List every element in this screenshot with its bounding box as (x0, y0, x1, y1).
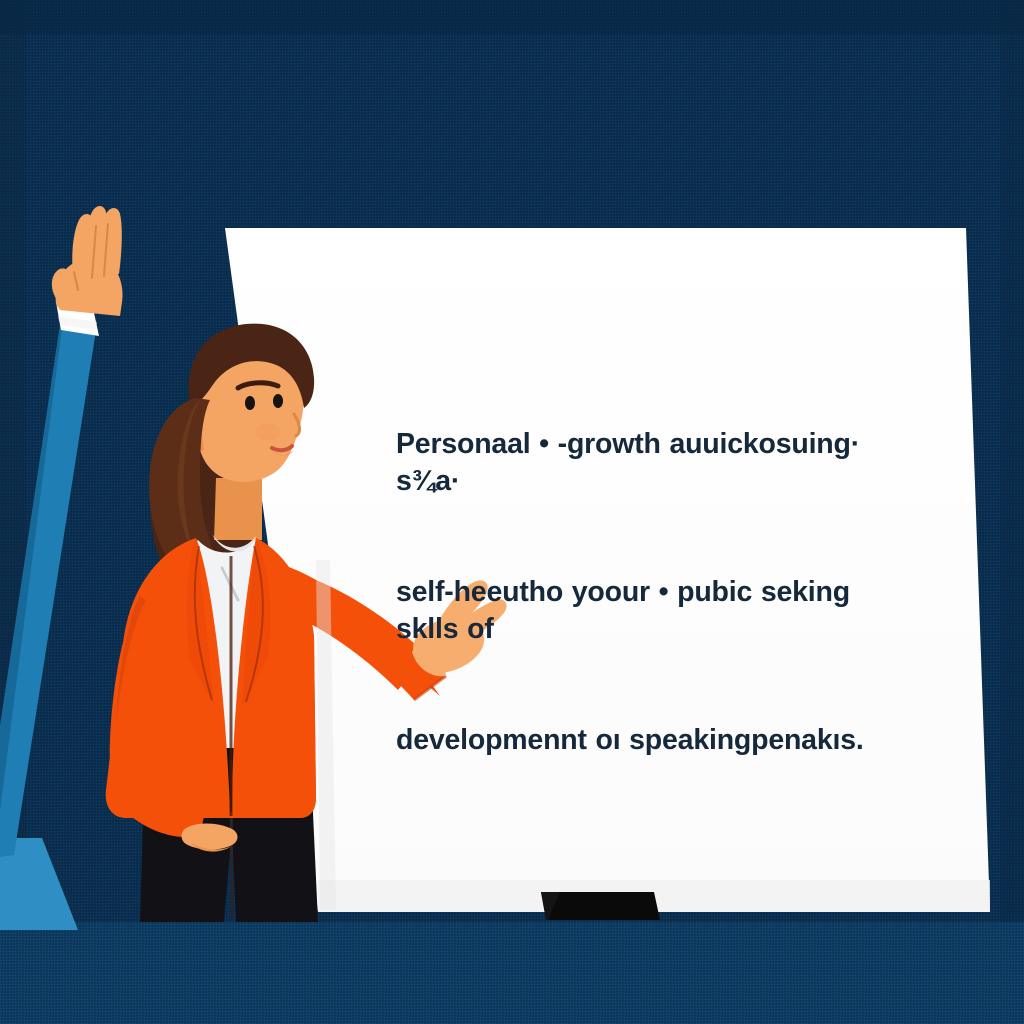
presenter-eye (273, 394, 283, 408)
whiteboard-text-line-3: developmennt oı speakingpenakıs. (396, 722, 916, 759)
illustration-scene: Personaal • -growth auuickosuing· s¾a· s… (0, 0, 1024, 1024)
whiteboard-text-block: Personaal • -growth auuickosuing· s¾a· s… (396, 352, 916, 833)
floor-band (0, 922, 1024, 1024)
presenter-neck (214, 478, 262, 540)
presenter-cheek (255, 424, 281, 440)
background-vignette-right (1000, 0, 1024, 1024)
whiteboard-text-line-1: Personaal • -growth auuickosuing· s¾a· (396, 426, 916, 500)
marker-tray (541, 892, 660, 920)
presenter-eye (245, 396, 255, 410)
background-vignette-top (0, 0, 1024, 34)
whiteboard-text-line-2: self-heeutho yoour • pubic seking sklls … (396, 574, 916, 648)
